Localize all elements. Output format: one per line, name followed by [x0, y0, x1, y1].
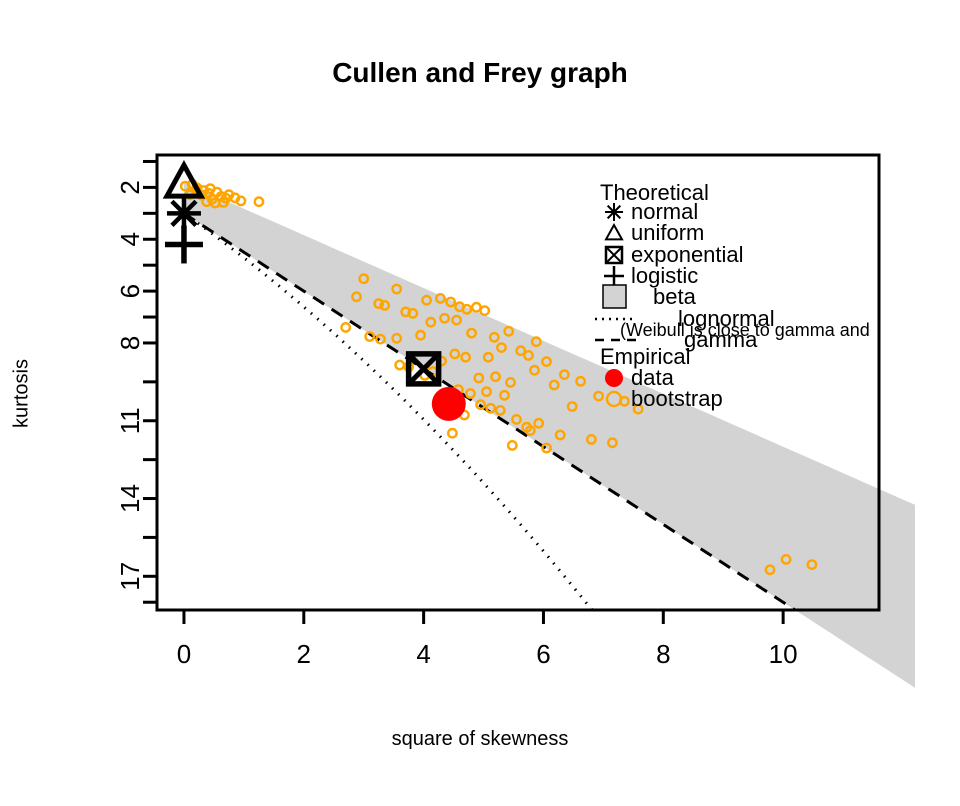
x-tick-label: 0: [177, 639, 191, 669]
bootstrap-point: [448, 429, 456, 437]
y-tick-label: 11: [115, 407, 145, 434]
x-tick-label: 4: [416, 639, 430, 669]
x-tick-label: 6: [536, 639, 550, 669]
y-tick-label: 14: [115, 484, 145, 513]
y-tick-label: 6: [115, 284, 145, 298]
legend-triangle-icon: [606, 225, 622, 239]
beta-region-polygon: [184, 182, 915, 688]
bootstrap-point: [508, 441, 516, 449]
y-tick-label: 2: [115, 180, 145, 194]
bootstrap-point: [342, 323, 350, 331]
y-tick-label: 8: [115, 336, 145, 350]
cullen-frey-graph-root: Cullen and Frey graph 02468102468111417T…: [0, 0, 960, 806]
y-tick-label: 17: [115, 562, 145, 591]
y-tick-label: 4: [115, 232, 145, 246]
x-tick-label: 8: [656, 639, 670, 669]
bootstrap-point: [255, 198, 263, 206]
legend-red-circle-icon: [605, 369, 623, 387]
legend-label-bootstrap: bootstrap: [631, 386, 723, 411]
beta-region: [184, 182, 915, 688]
bootstrap-point: [396, 361, 404, 369]
gamma-line: [184, 213, 813, 621]
empirical-data-point: [432, 387, 466, 421]
x-tick-label: 10: [769, 639, 798, 669]
y-axis-label: kurtosis: [11, 314, 34, 474]
legend: Theoreticalnormaluniformexponentiallogis…: [595, 180, 870, 411]
plot-canvas: 02468102468111417Theoreticalnormalunifor…: [0, 0, 960, 806]
legend-gray-square-icon: [603, 285, 626, 308]
x-axis-label: square of skewness: [0, 728, 960, 751]
bootstrap-point: [481, 306, 489, 314]
legend-weibull-note: (Weibull is close to gamma and: [620, 320, 870, 340]
x-tick-label: 2: [297, 639, 311, 669]
